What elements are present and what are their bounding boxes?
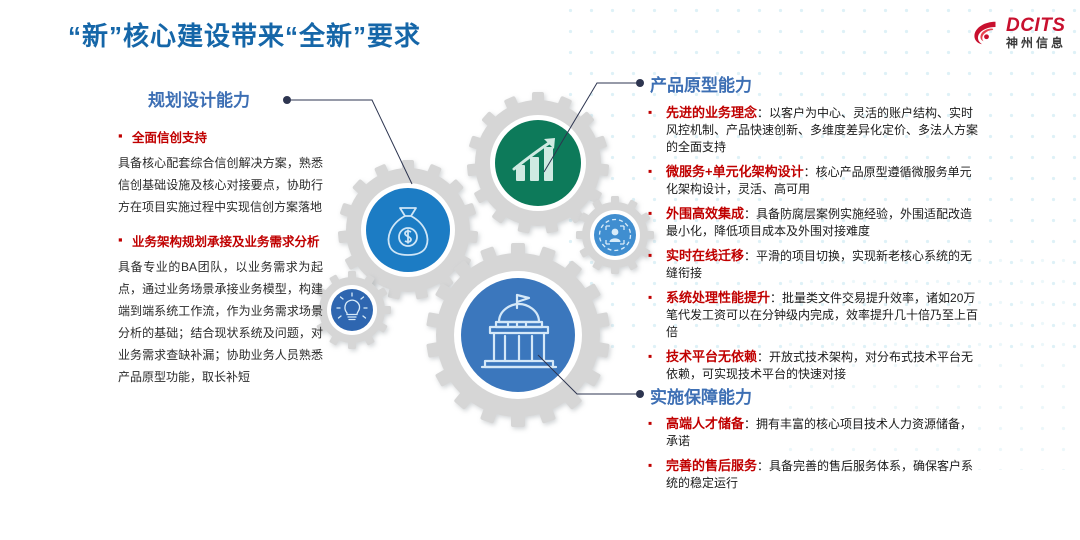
bullet-dot-icon: ▪ xyxy=(118,128,132,148)
page-title: “新”核心建设带来“全新”要求 xyxy=(68,16,421,53)
list-item: ▪ 技术平台无依赖：开放式技术架构，对分布式技术平台无依赖，可实现技术平台的快速… xyxy=(648,348,978,383)
bullet-dot-icon: ▪ xyxy=(648,415,666,450)
list-item: ▪ 实时在线迁移：平滑的项目切换，实现新老核心系统的无缝衔接 xyxy=(648,247,978,282)
bullet-dot-icon: ▪ xyxy=(118,232,132,252)
slide-canvas: “新”核心建设带来“全新”要求 DCITS 神州信息 xyxy=(0,0,1080,540)
list-item-text: 技术平台无依赖：开放式技术架构，对分布式技术平台无依赖，可实现技术平台的快速对接 xyxy=(666,348,978,383)
list-item-text: 高端人才储备：拥有丰富的核心项目技术人力资源储备，承诺 xyxy=(666,415,978,450)
planning-body: 具备专业的BA团队，以业务需求为起点，通过业务场景承接业务模型，构建端到端系统工… xyxy=(118,256,323,388)
dcits-swoosh-icon xyxy=(970,18,1000,48)
list-item-text: 外围高效集成：具备防腐层案例实施经验，外围适配改造最小化，降低项目成本及外围对接… xyxy=(666,205,978,240)
planning-bullet: ▪ 全面信创支持 xyxy=(118,128,323,148)
planning-content: ▪ 全面信创支持 具备核心配套综合信创解决方案，熟悉信创基础设施及核心对接要点，… xyxy=(118,128,323,402)
planning-bullet: ▪ 业务架构规划承接及业务需求分析 xyxy=(118,232,323,252)
bullet-dot-icon: ▪ xyxy=(648,348,666,383)
bullet-dot-icon: ▪ xyxy=(648,247,666,282)
logo-cn-text: 神州信息 xyxy=(1006,37,1066,49)
gear-cluster-graphic xyxy=(300,55,680,475)
bullet-dot-icon: ▪ xyxy=(648,457,666,492)
list-item-text: 先进的业务理念：以客户为中心、灵活的账户结构、实时风控机制、产品快速创新、多维度… xyxy=(666,104,978,156)
bullet-dot-icon: ▪ xyxy=(648,104,666,156)
list-item: ▪ 高端人才储备：拥有丰富的核心项目技术人力资源储备，承诺 xyxy=(648,415,978,450)
bullet-dot-icon: ▪ xyxy=(648,205,666,240)
list-item: ▪ 先进的业务理念：以客户为中心、灵活的账户结构、实时风控机制、产品快速创新、多… xyxy=(648,104,978,156)
bullet-dot-icon: ▪ xyxy=(648,289,666,341)
list-item-text: 微服务+单元化架构设计：核心产品原型遵循微服务单元化架构设计，灵活、高可用 xyxy=(666,163,978,198)
planning-block: ▪ 业务架构规划承接及业务需求分析 具备专业的BA团队，以业务需求为起点，通过业… xyxy=(118,232,323,388)
implementation-content: ▪ 高端人才储备：拥有丰富的核心项目技术人力资源储备，承诺 ▪ 完善的售后服务：… xyxy=(648,415,978,499)
heading-planning: 规划设计能力 xyxy=(148,86,250,111)
list-item: ▪ 外围高效集成：具备防腐层案例实施经验，外围适配改造最小化，降低项目成本及外围… xyxy=(648,205,978,240)
logo-en-text: DCITS xyxy=(1006,16,1066,35)
planning-lead: 全面信创支持 xyxy=(132,128,323,148)
list-item-text: 实时在线迁移：平滑的项目切换，实现新老核心系统的无缝衔接 xyxy=(666,247,978,282)
gear-growth-chart xyxy=(467,92,609,234)
planning-body: 具备核心配套综合信创解决方案，熟悉信创基础设施及核心对接要点，协助行方在项目实施… xyxy=(118,152,323,218)
planning-block: ▪ 全面信创支持 具备核心配套综合信创解决方案，熟悉信创基础设施及核心对接要点，… xyxy=(118,128,323,218)
list-item-text: 完善的售后服务：具备完善的售后服务体系，确保客户系统的稳定运行 xyxy=(666,457,978,492)
list-item-text: 系统处理性能提升：批量类文件交易提升效率，诸如20万笔代发工资可以在分钟级内完成… xyxy=(666,289,978,341)
list-item: ▪ 系统处理性能提升：批量类文件交易提升效率，诸如20万笔代发工资可以在分钟级内… xyxy=(648,289,978,341)
list-item: ▪ 微服务+单元化架构设计：核心产品原型遵循微服务单元化架构设计，灵活、高可用 xyxy=(648,163,978,198)
gear-user-target xyxy=(576,196,654,274)
brand-logo: DCITS 神州信息 xyxy=(970,16,1066,49)
bullet-dot-icon: ▪ xyxy=(648,163,666,198)
heading-product-prototype: 产品原型能力 xyxy=(650,71,752,96)
list-item: ▪ 完善的售后服务：具备完善的售后服务体系，确保客户系统的稳定运行 xyxy=(648,457,978,492)
planning-lead: 业务架构规划承接及业务需求分析 xyxy=(132,232,323,252)
product-prototype-content: ▪ 先进的业务理念：以客户为中心、灵活的账户结构、实时风控机制、产品快速创新、多… xyxy=(648,104,978,390)
connector-dot-planning xyxy=(283,96,291,104)
